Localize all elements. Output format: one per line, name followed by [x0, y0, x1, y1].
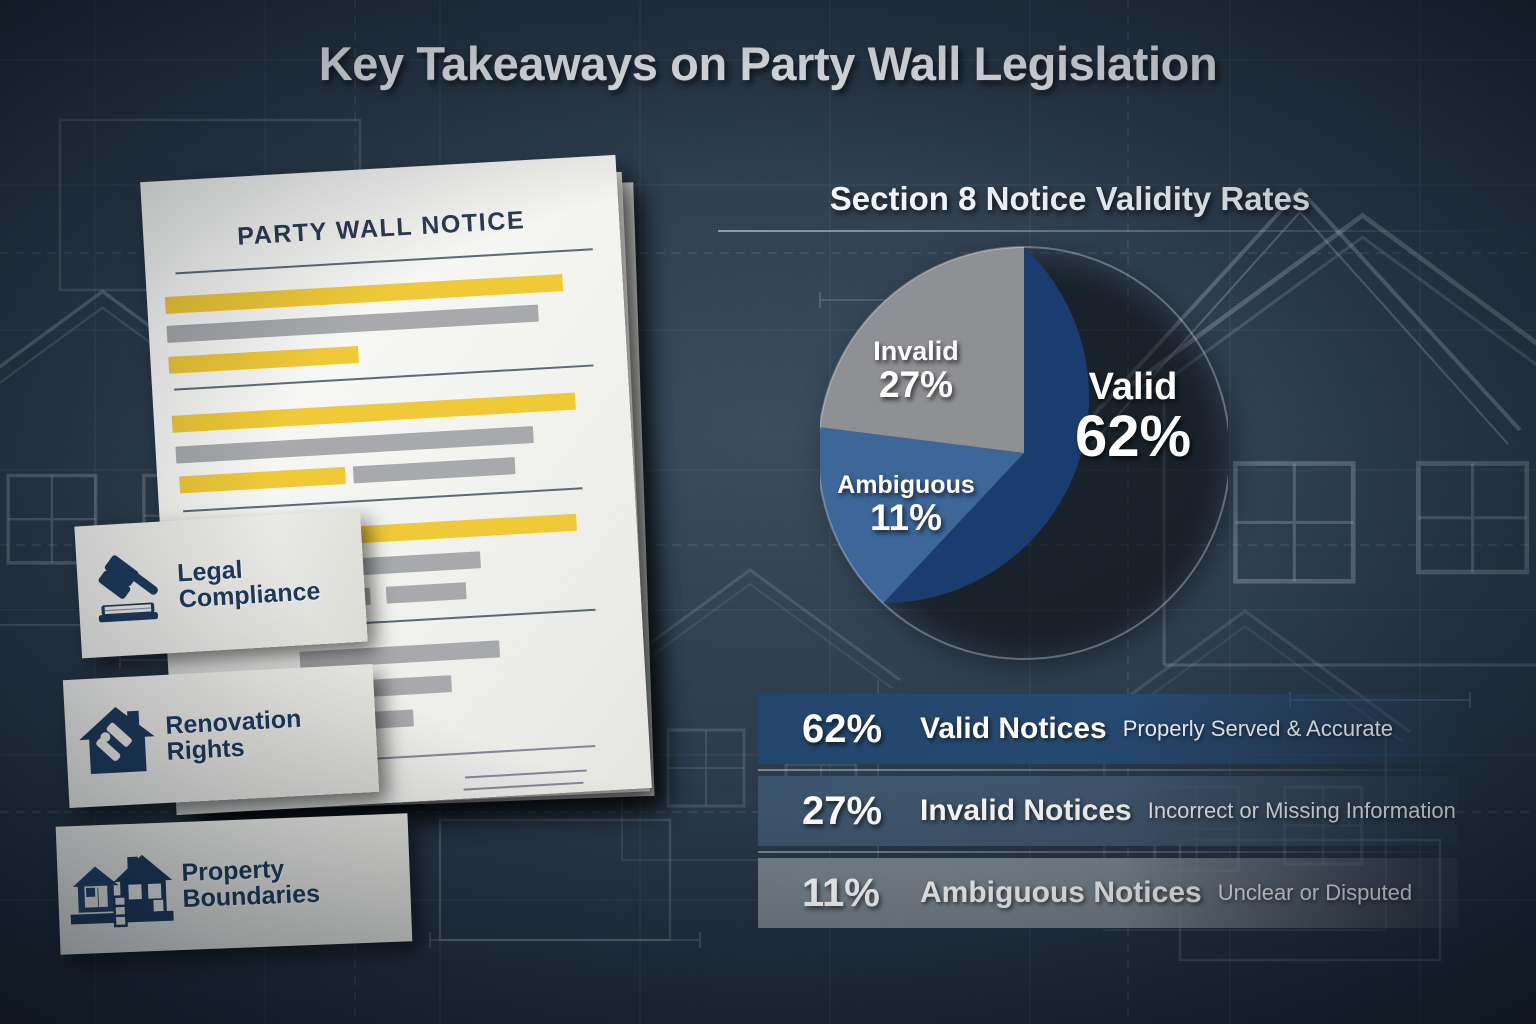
vignette-overlay	[0, 0, 1536, 1024]
infographic-canvas: Key Takeaways on Party Wall Legislation …	[0, 0, 1536, 1024]
